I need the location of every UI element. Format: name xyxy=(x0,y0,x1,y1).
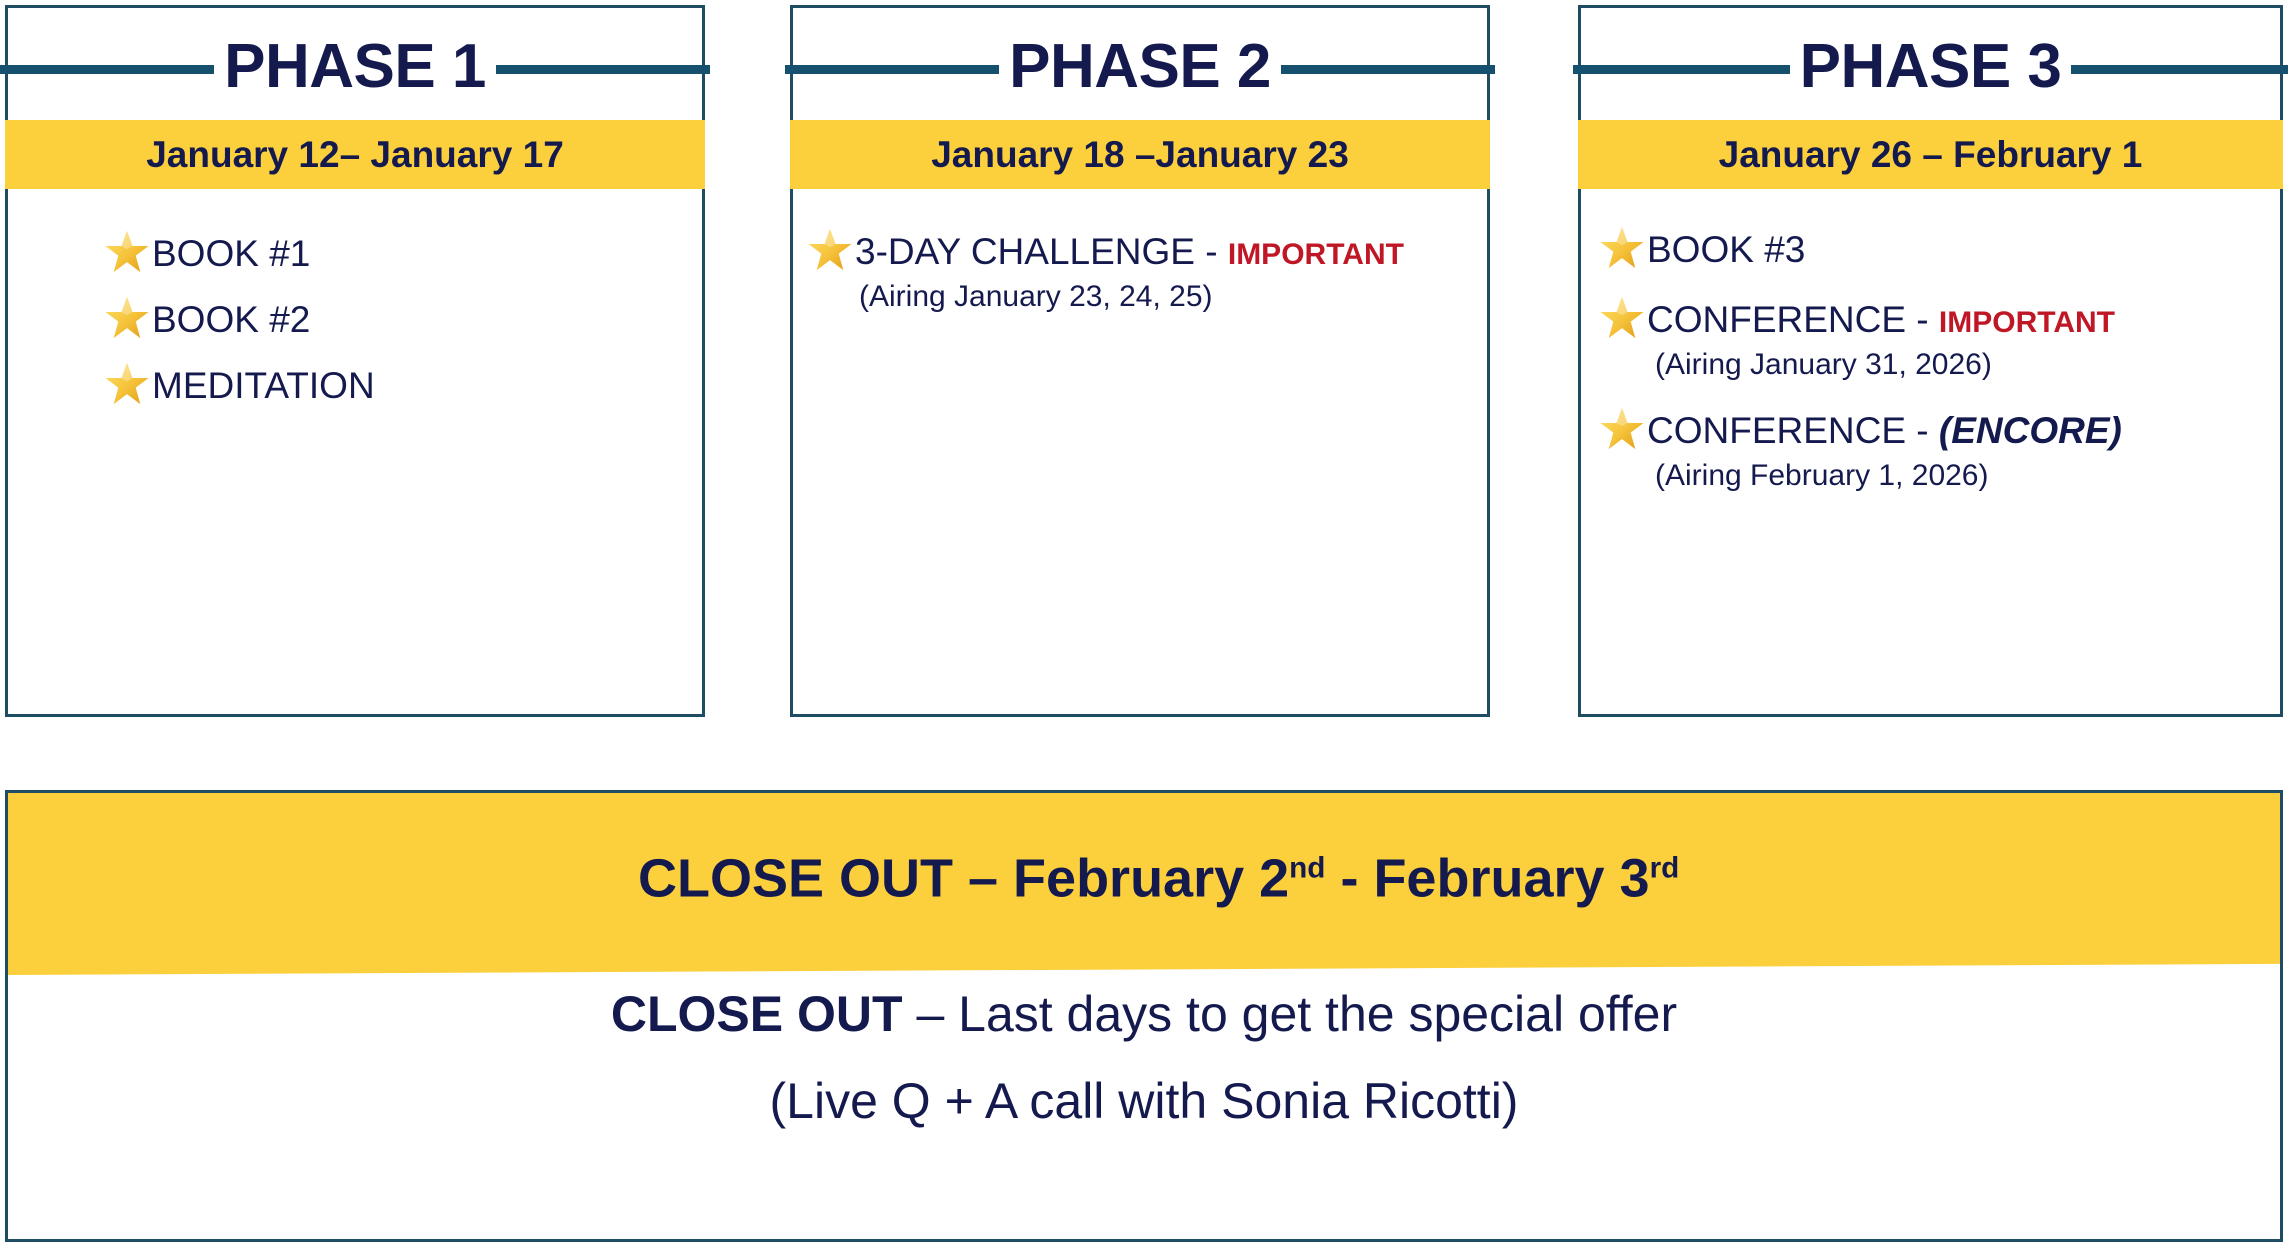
phase-card-3: PHASE 3 January 26 – February 1 BOOK #3 xyxy=(1578,5,2283,717)
list-item-label: BOOK #1 xyxy=(152,235,310,274)
star-icon xyxy=(1599,407,1645,451)
star-icon xyxy=(104,362,150,406)
list-item-subtext: (Airing January 23, 24, 25) xyxy=(859,280,1473,313)
closeout-line-1-rest: – Last days to get the special offer xyxy=(903,986,1678,1042)
closeout-line-1-bold: CLOSE OUT xyxy=(611,986,903,1042)
list-item-label: BOOK #2 xyxy=(152,301,310,340)
encore-flag: (ENCORE) xyxy=(1939,410,2122,451)
title-rule-right xyxy=(1281,65,1495,74)
list-item: CONFERENCE - (ENCORE) (Airing February 1… xyxy=(1599,399,2266,492)
closeout-card: CLOSE OUT – February 2nd - February 3rd … xyxy=(5,790,2283,1242)
star-icon xyxy=(1599,226,1645,270)
star-icon xyxy=(104,230,150,274)
title-rule-left xyxy=(0,65,214,74)
star-icon xyxy=(807,228,853,272)
phase-3-items: BOOK #3 CONFERENCE - IMPORTANT (Airing J… xyxy=(1581,204,2280,714)
closeout-line-1: CLOSE OUT – Last days to get the special… xyxy=(8,983,2280,1046)
phase-2-items: 3-DAY CHALLENGE - IMPORTANT (Airing Janu… xyxy=(793,204,1487,714)
closeout-banner-prefix: CLOSE OUT – February 2 xyxy=(638,848,1289,908)
star-icon xyxy=(1599,296,1645,340)
important-flag: IMPORTANT xyxy=(1939,306,2115,339)
title-rule-right xyxy=(496,65,710,74)
list-item: BOOK #2 xyxy=(104,288,688,340)
phase-1-title-row: PHASE 1 xyxy=(8,14,702,124)
phase-3-dates: January 26 – February 1 xyxy=(1719,136,2143,173)
star-icon xyxy=(104,296,150,340)
list-item-subtext: (Airing February 1, 2026) xyxy=(1655,459,2266,492)
closeout-banner-sup-2: rd xyxy=(1650,851,1680,884)
list-item-label: BOOK #3 xyxy=(1647,231,1805,270)
closeout-banner-middle: - February 3 xyxy=(1326,848,1650,908)
phase-1-dates: January 12– January 17 xyxy=(146,136,564,173)
important-flag: IMPORTANT xyxy=(1228,238,1404,271)
phase-1-items: BOOK #1 BOOK #2 xyxy=(8,204,702,714)
phase-3-title: PHASE 3 xyxy=(1790,36,2072,98)
phase-1-title: PHASE 1 xyxy=(214,36,496,98)
list-item-label: MEDITATION xyxy=(152,367,375,406)
phase-2-title: PHASE 2 xyxy=(999,36,1281,98)
phase-1-date-band: January 12– January 17 xyxy=(5,120,705,189)
closeout-line-2: (Live Q + A call with Sonia Ricotti) xyxy=(8,1070,2280,1133)
phase-3-date-band: January 26 – February 1 xyxy=(1578,120,2283,189)
closeout-body: CLOSE OUT – Last days to get the special… xyxy=(8,983,2280,1132)
closeout-banner: CLOSE OUT – February 2nd - February 3rd xyxy=(6,790,2283,975)
timeline-canvas: PHASE 1 January 12– January 17 xyxy=(0,0,2290,1249)
list-item: MEDITATION xyxy=(104,354,688,406)
phase-3-title-row: PHASE 3 xyxy=(1581,14,2280,124)
phase-2-title-row: PHASE 2 xyxy=(793,14,1487,124)
list-item-subtext: (Airing January 31, 2026) xyxy=(1655,348,2266,381)
list-item-text: CONFERENCE - xyxy=(1647,410,1939,451)
phase-card-1: PHASE 1 January 12– January 17 xyxy=(5,5,705,717)
title-rule-right xyxy=(2071,65,2288,74)
phase-card-2: PHASE 2 January 18 –January 23 3-DAY CHA… xyxy=(790,5,1490,717)
phase-2-dates: January 18 –January 23 xyxy=(931,136,1349,173)
phase-2-date-band: January 18 –January 23 xyxy=(790,120,1490,189)
list-item-label: CONFERENCE - (ENCORE) xyxy=(1647,412,2122,451)
closeout-banner-sup-1: nd xyxy=(1290,851,1326,884)
title-rule-left xyxy=(1573,65,1790,74)
list-item: 3-DAY CHALLENGE - IMPORTANT (Airing Janu… xyxy=(807,220,1473,313)
list-item-text: CONFERENCE - xyxy=(1647,299,1939,340)
list-item: BOOK #1 xyxy=(104,222,688,274)
list-item-text: 3-DAY CHALLENGE - xyxy=(855,231,1228,272)
list-item-label: 3-DAY CHALLENGE - IMPORTANT xyxy=(855,233,1404,272)
list-item: BOOK #3 xyxy=(1599,218,2266,270)
title-rule-left xyxy=(785,65,999,74)
closeout-banner-text: CLOSE OUT – February 2nd - February 3rd xyxy=(638,851,1679,905)
list-item: CONFERENCE - IMPORTANT (Airing January 3… xyxy=(1599,288,2266,381)
list-item-label: CONFERENCE - IMPORTANT xyxy=(1647,301,2115,340)
